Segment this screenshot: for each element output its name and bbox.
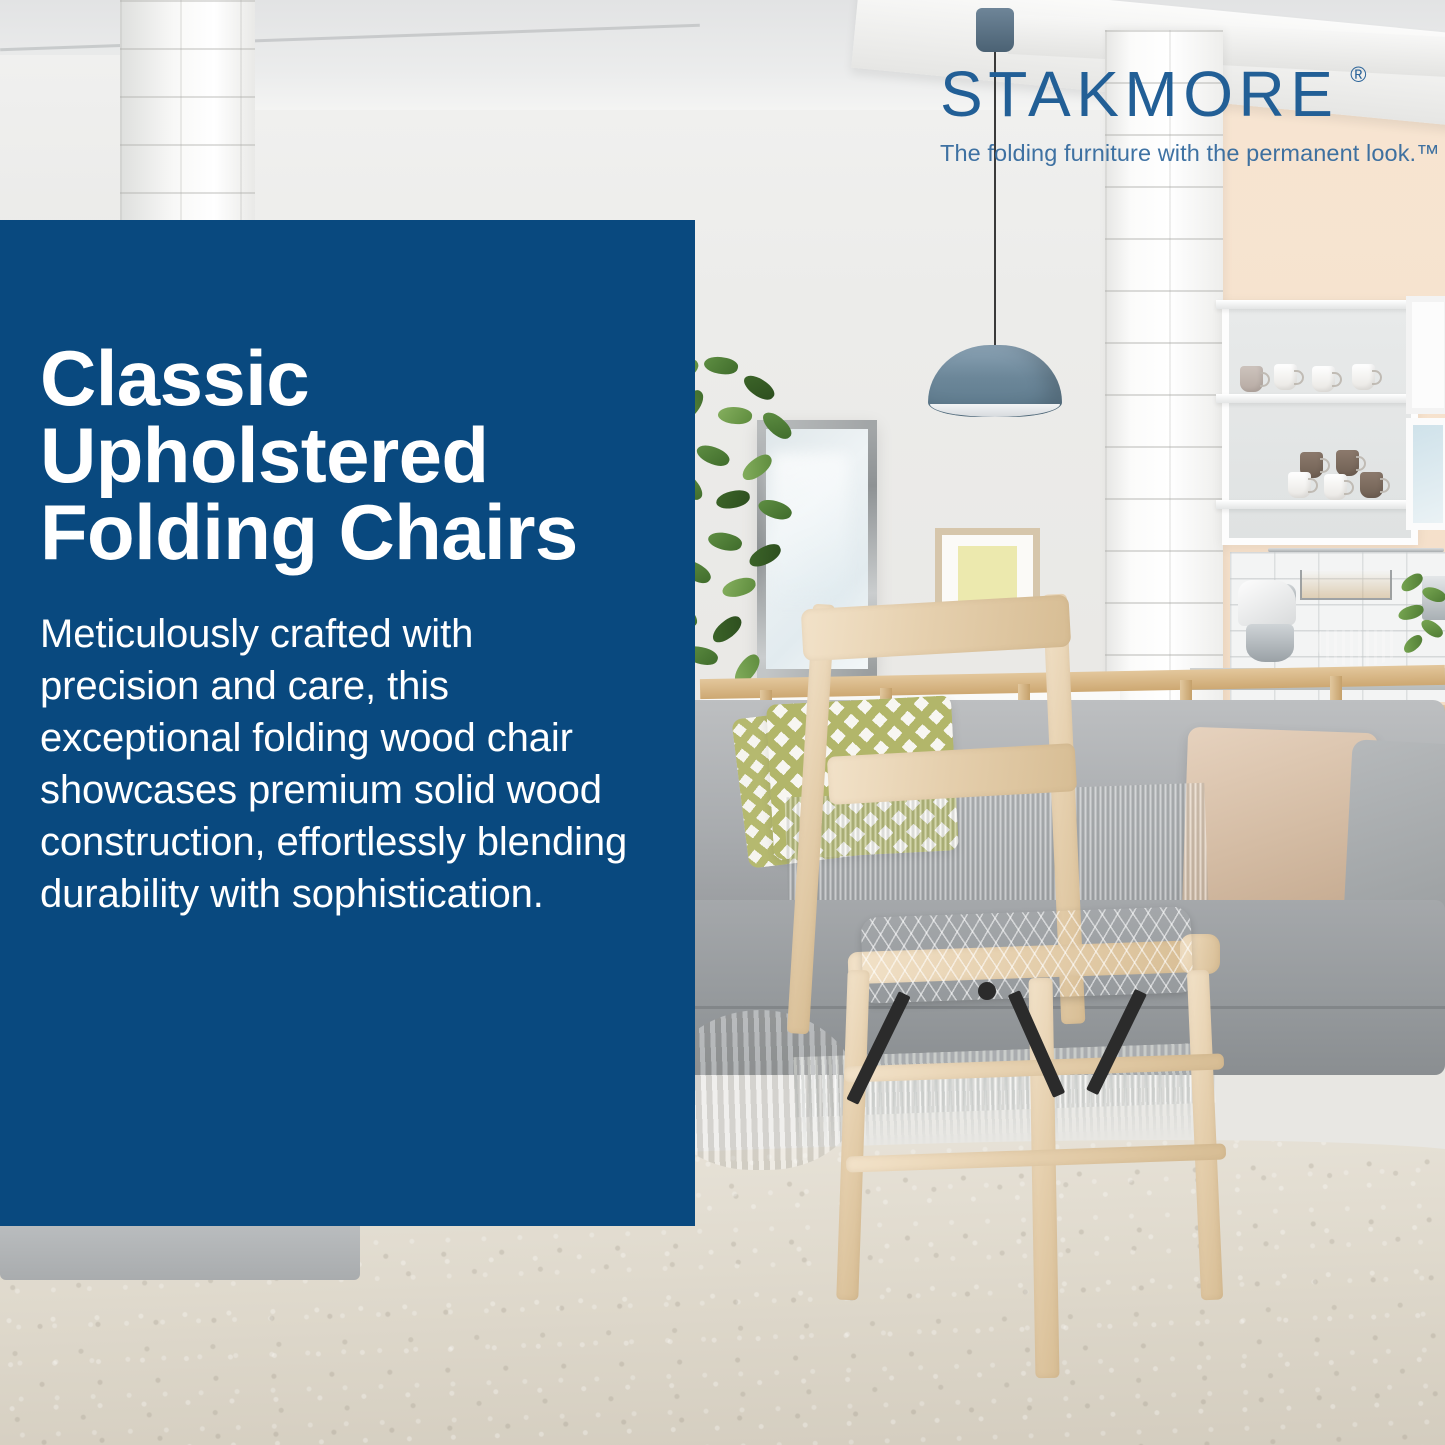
mug (1240, 366, 1263, 392)
mug (1324, 474, 1347, 500)
chair-folding-brace-right (1086, 989, 1147, 1095)
headline-line-1: Classic (40, 340, 647, 417)
copy-panel: Classic Upholstered Folding Chairs Metic… (0, 220, 695, 1226)
brand-name-text: STAKMORE (940, 58, 1338, 130)
chair-front-leg-left (836, 970, 870, 1301)
mug (1312, 366, 1335, 392)
pendant-lamp-canopy (976, 8, 1014, 52)
page-title: Classic Upholstered Folding Chairs (40, 340, 647, 572)
upholstered-folding-chair (780, 590, 1280, 1380)
product-banner: STAKMORE ® The folding furniture with th… (0, 0, 1445, 1445)
shelf-board-lower (1216, 500, 1424, 509)
grey-pillow (1343, 739, 1445, 925)
headline-line-2: Upholstered (40, 417, 647, 494)
chair-pivot-bolt (978, 982, 996, 1000)
glass-wall-cabinet (1406, 418, 1445, 530)
kitchen-hanging-rail (1268, 548, 1444, 552)
chair-upholstered-seat (861, 906, 1194, 1003)
chair-back-post-left (787, 604, 835, 1035)
wall-cabinet (1406, 296, 1445, 414)
shelf-board-top (1216, 300, 1424, 309)
chair-back-slat (827, 743, 1077, 805)
mug (1288, 472, 1311, 498)
brand-tagline: The folding furniture with the permanent… (940, 140, 1380, 167)
wicker-basket (1318, 630, 1398, 666)
mug (1336, 450, 1359, 476)
spice-rack (1300, 570, 1392, 600)
mug (1274, 364, 1297, 390)
mug (1352, 364, 1375, 390)
brand-logo: STAKMORE ® The folding furniture with th… (940, 62, 1380, 167)
herb-plant (1398, 572, 1445, 667)
brand-wordmark: STAKMORE ® (940, 62, 1338, 126)
registered-trademark-icon: ® (1350, 64, 1366, 86)
chair-rear-leg-right (1187, 970, 1223, 1301)
chair-crest-rail (801, 595, 1071, 662)
product-description: Meticulously crafted with precision and … (40, 608, 640, 920)
headline-line-3: Folding Chairs (40, 494, 647, 571)
shelf-board-middle (1216, 394, 1424, 403)
mug (1360, 472, 1383, 498)
